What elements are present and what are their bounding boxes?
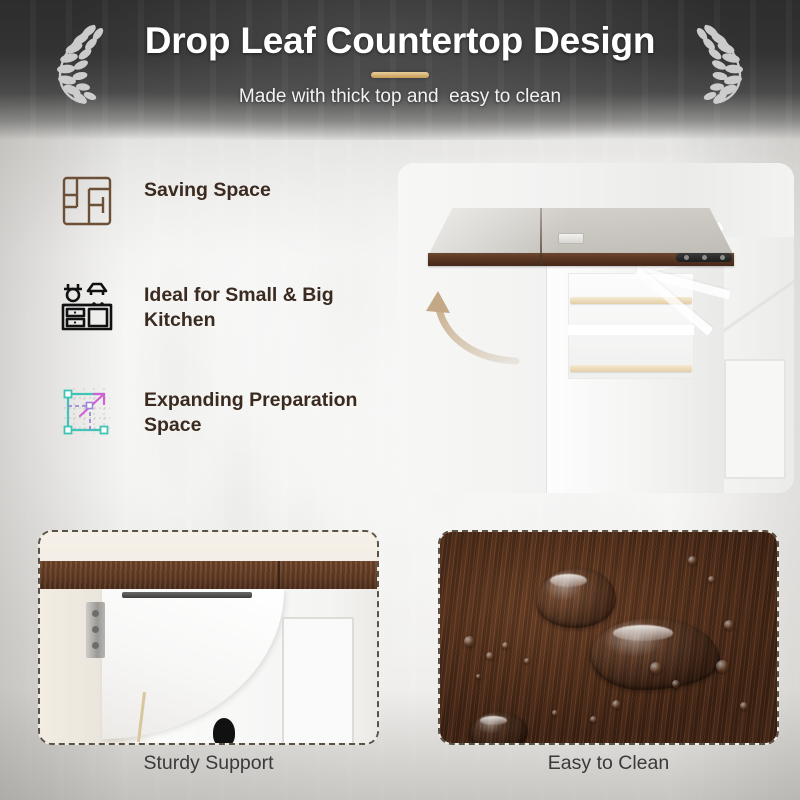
panel-frame (438, 530, 779, 745)
water-droplet-small (524, 658, 530, 664)
countertop-sheen (428, 208, 734, 256)
water-droplet-small (688, 556, 697, 565)
feature-item-saving-space: Saving Space (58, 172, 388, 230)
water-droplet-small (650, 662, 662, 674)
water-droplet (536, 568, 616, 628)
water-droplet-small (552, 710, 558, 716)
panel-easy-to-clean: Easy to Clean (438, 530, 779, 745)
countertop-wood-band (40, 561, 377, 589)
water-droplet-small (724, 620, 734, 630)
water-droplet-small (502, 642, 509, 649)
feature-list: Saving Space (58, 172, 388, 487)
water-droplet-small (590, 716, 597, 723)
feature-label: Saving Space (144, 172, 271, 203)
drop-leaf-seam (540, 208, 542, 266)
water-droplet-small (716, 660, 729, 673)
product-feature-infographic: Drop Leaf Countertop Design Made with th… (0, 0, 800, 800)
kitchen-cabinet-icon (58, 277, 116, 335)
cabinet-knob (213, 718, 235, 745)
panel-caption: Sturdy Support (38, 752, 379, 775)
leaf-latch (558, 233, 584, 244)
expand-resize-icon (58, 382, 116, 440)
panel-caption: Easy to Clean (438, 752, 779, 775)
product-hero-image (398, 163, 794, 493)
feature-label: Expanding Preparation Space (144, 382, 369, 438)
page-title: Drop Leaf Countertop Design (0, 20, 800, 62)
panel-sturdy-support: Sturdy Support (38, 530, 379, 745)
water-droplet-small (476, 674, 481, 679)
feature-item-ideal-kitchen: Ideal for Small & Big Kitchen (58, 277, 388, 335)
page-subtitle: Made with thick top and easy to clean (0, 86, 800, 108)
water-droplet-small (740, 702, 748, 710)
countertop-seam (278, 561, 280, 589)
floor-plan-icon (58, 172, 116, 230)
water-droplet-small (672, 680, 680, 688)
cabinet-door (282, 617, 354, 745)
water-droplet-small (708, 576, 715, 583)
water-droplet-small (486, 652, 494, 660)
water-droplet-small (612, 700, 621, 709)
feature-label: Ideal for Small & Big Kitchen (144, 277, 369, 333)
support-arm (122, 592, 252, 598)
water-droplet (470, 712, 528, 745)
folding-motion-arrow-icon (414, 275, 544, 375)
title-divider (371, 72, 429, 78)
water-droplet-small (464, 636, 475, 647)
feature-item-expanding-space: Expanding Preparation Space (58, 382, 388, 440)
shelf-rail (570, 365, 692, 372)
shelf-divider (568, 325, 694, 335)
support-bracket (86, 602, 105, 658)
panel-frame (38, 530, 379, 745)
cabinet-door-panel (724, 359, 786, 479)
leaf-hinge (676, 253, 732, 262)
header-banner: Drop Leaf Countertop Design Made with th… (0, 0, 800, 140)
